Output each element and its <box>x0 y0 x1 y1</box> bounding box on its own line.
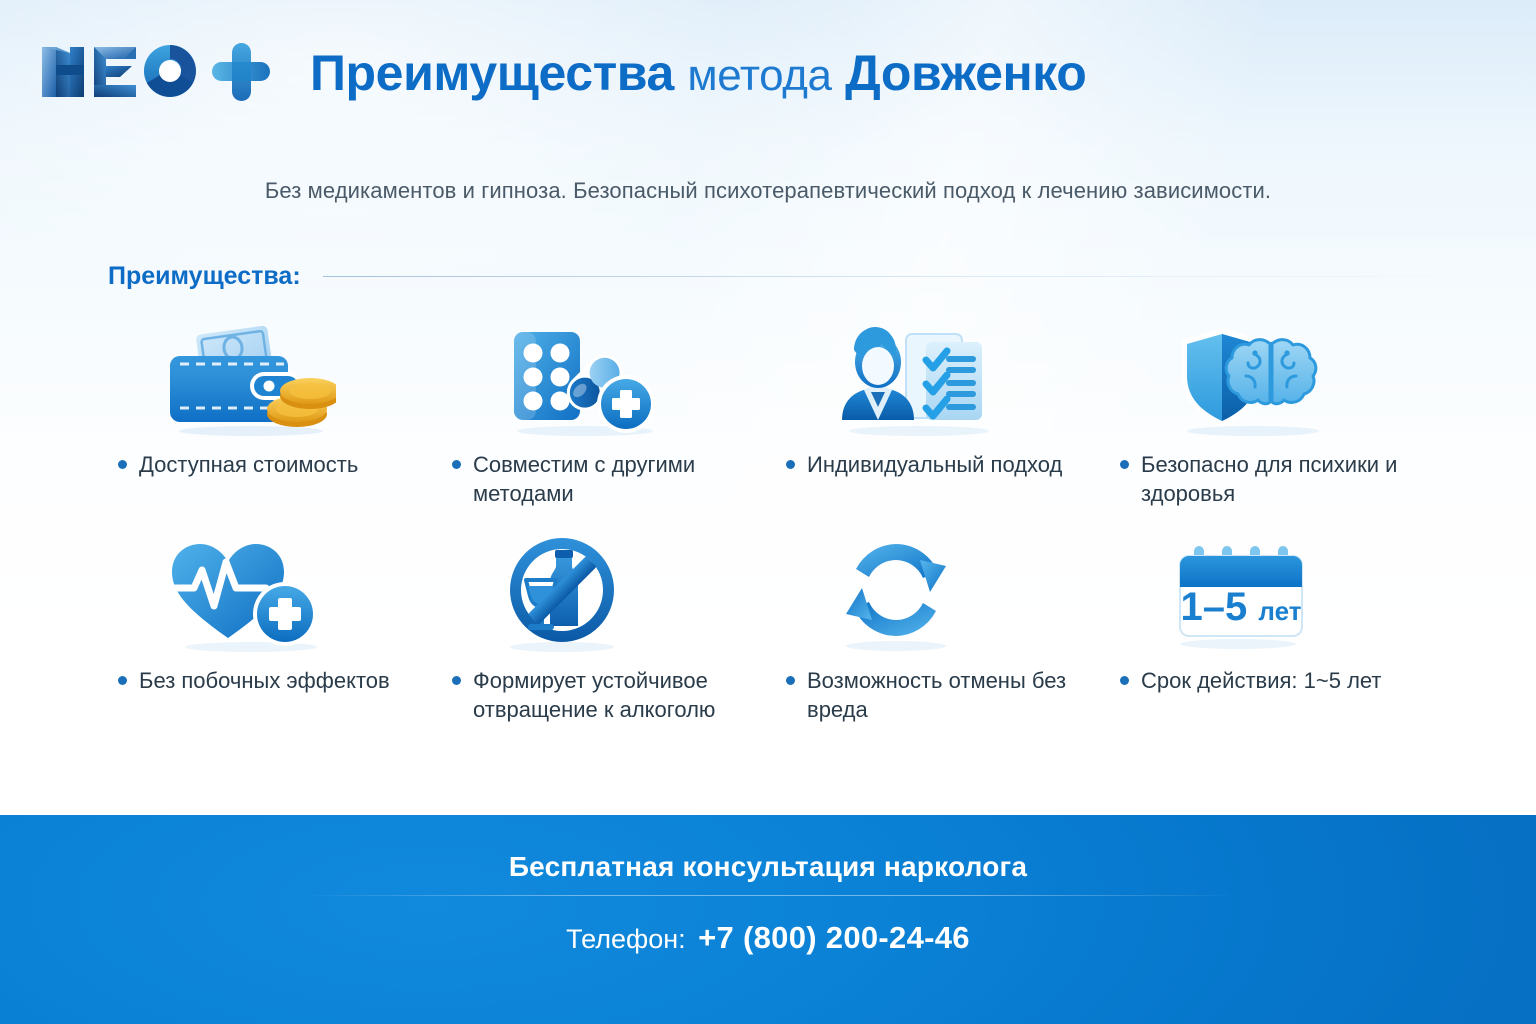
benefit-label-row: Возможность отмены без вреда <box>772 654 1106 724</box>
benefit-item: Индивидуальный подход <box>772 306 1106 522</box>
benefit-label-row: Срок действия: 1~5 лет <box>1106 654 1440 695</box>
header: Преимущества метода Довженко <box>0 0 1536 150</box>
subtitle: Без медикаментов и гипноза. Безопасный п… <box>0 178 1536 204</box>
benefit-item: Совместим с другими методами <box>438 306 772 522</box>
bullet-icon <box>786 676 795 685</box>
bullet-icon <box>1120 460 1129 469</box>
benefit-item: Безопасно для психики и здоровья <box>1106 306 1440 522</box>
shield-brain-icon <box>1106 306 1440 438</box>
benefit-label-row: Без побочных эффектов <box>104 654 438 695</box>
benefit-item: Без побочных эффектов <box>104 522 438 738</box>
benefit-label: Срок действия: 1~5 лет <box>1141 666 1382 695</box>
bullet-icon <box>452 460 461 469</box>
infographic-page: Преимущества метода Довженко Без медикам… <box>0 0 1536 1024</box>
benefit-item: Возможность отмены без вреда <box>772 522 1106 738</box>
benefit-label-row: Безопасно для психики и здоровья <box>1106 438 1440 508</box>
benefit-label: Совместим с другими методами <box>473 450 735 508</box>
page-title: Преимущества метода Довженко <box>310 48 1086 98</box>
benefit-label-row: Совместим с другими методами <box>438 438 772 508</box>
footer-phone: Телефон: +7 (800) 200-24-46 <box>0 920 1536 956</box>
heart-pulse-plus-icon <box>104 522 438 654</box>
doctor-checklist-icon <box>772 306 1106 438</box>
footer-cta-band: Бесплатная консультация нарколога Телефо… <box>0 815 1536 1024</box>
section-divider <box>323 276 1438 277</box>
benefit-label: Формирует устойчивое отвращение к алкого… <box>473 666 735 724</box>
bullet-icon <box>118 460 127 469</box>
title-part-2: метода <box>687 51 831 100</box>
refresh-arrows-icon <box>772 522 1106 654</box>
footer-divider <box>300 895 1240 896</box>
neo-plus-logo <box>36 39 276 105</box>
pills-blister-plus-icon <box>438 306 772 438</box>
benefit-label: Возможность отмены без вреда <box>807 666 1069 724</box>
bullet-icon <box>786 460 795 469</box>
benefit-label: Доступная стоимость <box>139 450 358 479</box>
benefit-label: Индивидуальный подход <box>807 450 1062 479</box>
no-alcohol-icon <box>438 522 772 654</box>
benefit-label: Без побочных эффектов <box>139 666 390 695</box>
section-heading: Преимущества: <box>108 262 1438 291</box>
bullet-icon <box>118 676 127 685</box>
benefit-item: 1–5 лет Срок действия: 1~5 лет <box>1106 522 1440 738</box>
title-part-3: Довженко <box>845 45 1086 101</box>
bullet-icon <box>1120 676 1129 685</box>
benefit-label-row: Доступная стоимость <box>104 438 438 479</box>
phone-label: Телефон: <box>566 924 686 954</box>
benefit-label-row: Индивидуальный подход <box>772 438 1106 479</box>
calendar-years-icon: 1–5 лет <box>1106 522 1440 654</box>
bullet-icon <box>452 676 461 685</box>
benefit-item: Формирует устойчивое отвращение к алкого… <box>438 522 772 738</box>
benefit-item: Доступная стоимость <box>104 306 438 522</box>
wallet-coins-icon <box>104 306 438 438</box>
benefit-label: Безопасно для психики и здоровья <box>1141 450 1403 508</box>
footer-title: Бесплатная консультация нарколога <box>0 851 1536 883</box>
title-part-1: Преимущества <box>310 45 674 101</box>
benefit-label-row: Формирует устойчивое отвращение к алкого… <box>438 654 772 724</box>
phone-number[interactable]: +7 (800) 200-24-46 <box>698 920 970 955</box>
section-heading-label: Преимущества: <box>108 262 323 291</box>
benefits-grid: Доступная стоимость <box>104 306 1440 738</box>
